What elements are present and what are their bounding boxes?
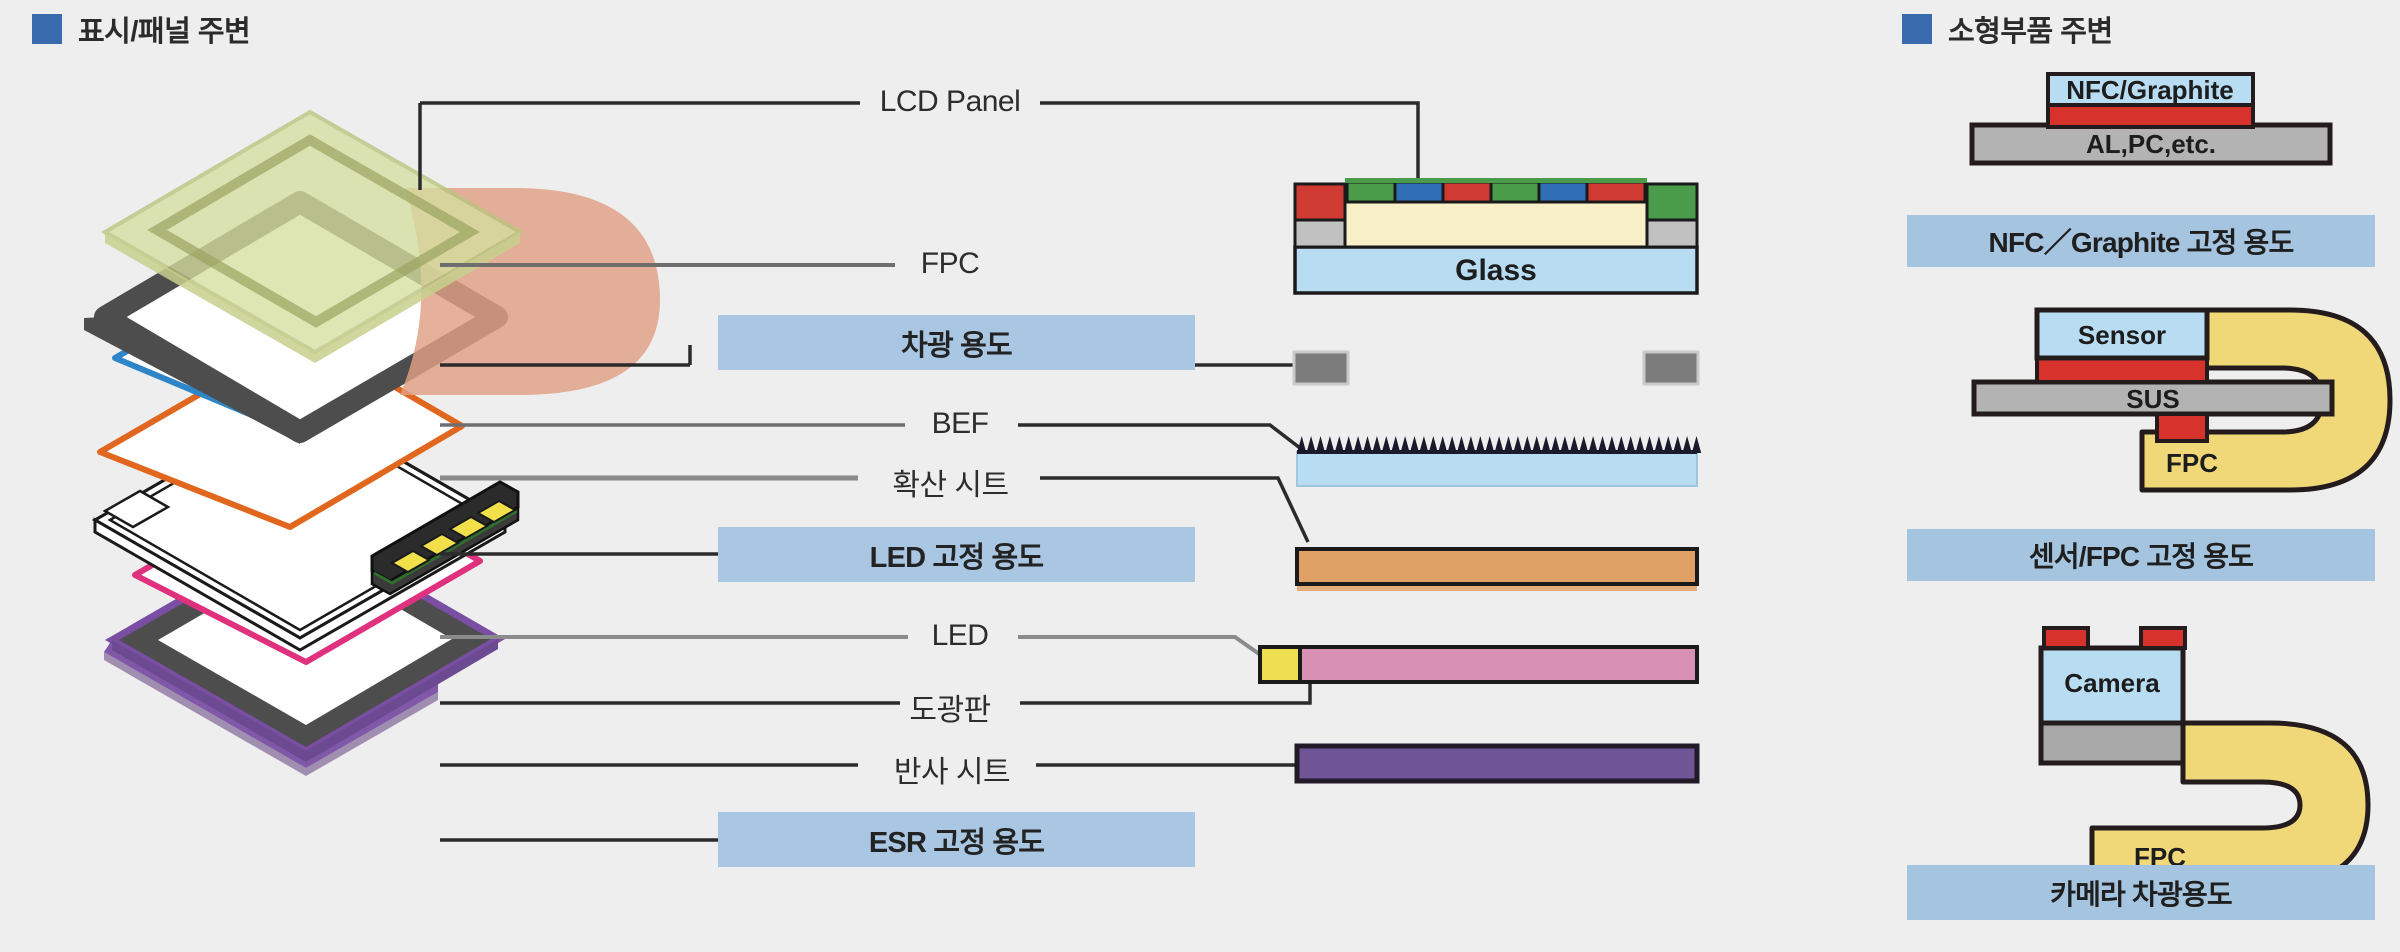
usage-bar-esr-fixing[interactable]: ESR 고정 용도 [718, 812, 1195, 867]
caption-nfc-graphite[interactable]: NFC／Graphite 고정 용도 [1907, 215, 2375, 267]
usage-bar-shading[interactable]: 차광 용도 [718, 315, 1195, 370]
xsec-lcd-panel: Glass [1295, 178, 1697, 293]
xsec-diffuser [1297, 549, 1697, 591]
layer-cross-sections: Glass [0, 0, 2400, 952]
stack-layer-diffuser [100, 342, 462, 527]
caption-sensor-fpc-label: 센서/FPC 고정 용도 [2029, 535, 2253, 575]
section-title-right: 소형부품 주변 [1948, 8, 2113, 50]
callout-fpc: FPC [905, 247, 995, 281]
stack-layer-led-tape [135, 476, 480, 662]
callout-led: LED [912, 619, 1008, 653]
xsec-led-chip [1260, 647, 1300, 682]
usage-bar-led-fixing[interactable]: LED 고정 용도 [718, 527, 1195, 582]
part-label-fpc-sensor: FPC [2166, 448, 2218, 478]
xsec-bef [1297, 436, 1701, 486]
xsec-lgp [1260, 647, 1697, 682]
part-camera: FPC Camera [2041, 628, 2368, 885]
layer-small-parts: AL,PC,etc. NFC/Graphite FPC SUS Sensor F [0, 0, 2400, 952]
callout-diffuser: 확산 시트 [868, 460, 1033, 504]
stack-layer-lgp-led [95, 402, 518, 650]
caption-sensor-fpc[interactable]: 센서/FPC 고정 용도 [1907, 529, 2375, 581]
section-marker-icon [1902, 14, 1932, 44]
section-marker-icon [32, 14, 62, 44]
stack-layer-lcd-panel [105, 112, 520, 363]
xsec-glass-label: Glass [1455, 254, 1537, 287]
stack-layer-shading-tape [84, 202, 497, 444]
callout-bef: BEF [910, 407, 1010, 441]
usage-bar-shading-label: 차광 용도 [901, 322, 1012, 364]
callout-lcd-panel: LCD Panel [870, 85, 1030, 119]
caption-camera-label: 카메라 차광용도 [2050, 873, 2232, 913]
caption-camera[interactable]: 카메라 차광용도 [1907, 865, 2375, 920]
usage-bar-led-fixing-label: LED 고정 용도 [870, 534, 1044, 576]
stack-layer-fpc [395, 188, 660, 395]
part-label-sensor: Sensor [2078, 320, 2166, 350]
xsec-reflector [1297, 746, 1697, 781]
exploded-stack-illustration [0, 0, 2400, 952]
part-label-al-pc-etc: AL,PC,etc. [2086, 129, 2216, 159]
callout-reflector: 반사 시트 [868, 747, 1036, 791]
caption-nfc-graphite-label: NFC／Graphite 고정 용도 [1989, 221, 2294, 261]
section-title-left: 표시/패널 주변 [78, 8, 250, 50]
stack-layer-bef [115, 254, 462, 433]
section-header-display-panel: 표시/패널 주변 [32, 8, 250, 50]
part-label-nfc-graphite: NFC/Graphite [2066, 75, 2234, 105]
stack-layer-reflector [104, 528, 498, 826]
xsec-shading-blocks [1294, 352, 1698, 384]
usage-bar-esr-fixing-label: ESR 고정 용도 [869, 819, 1044, 861]
part-sensor-fpc: FPC SUS Sensor [1974, 310, 2390, 490]
part-label-camera: Camera [2064, 668, 2160, 698]
section-header-small-parts: 소형부품 주변 [1902, 8, 2113, 50]
diagram-root: 표시/패널 주변 소형부품 주변 [0, 0, 2400, 952]
callout-lgp: 도광판 [880, 685, 1020, 729]
part-nfc-graphite: AL,PC,etc. NFC/Graphite [1972, 74, 2330, 163]
callout-leader-lines [0, 0, 2400, 952]
led-chip-group [392, 501, 515, 572]
part-label-sus: SUS [2126, 384, 2179, 414]
